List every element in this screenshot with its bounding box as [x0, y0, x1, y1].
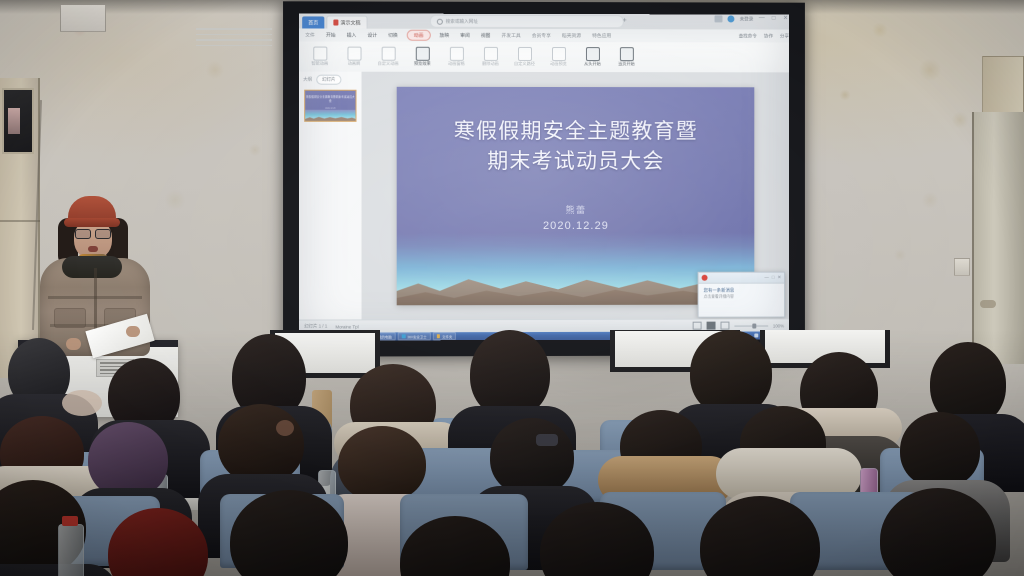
presenter-mouth [88, 246, 98, 252]
notification-popup[interactable]: — □ ✕ 您有一条新消息 点击查看详细内容 [698, 272, 785, 318]
sparkle-icon [313, 47, 327, 61]
door-handle[interactable] [980, 300, 996, 308]
preview-effect-label: 预览效果 [414, 62, 431, 66]
head [218, 404, 304, 484]
play-from-current-label: 当页开始 [618, 63, 635, 67]
slide-date: 2020.12.29 [397, 220, 755, 232]
book-icon [415, 47, 429, 61]
play-from-start-label: 从头开始 [584, 62, 601, 66]
projector-icon [585, 47, 599, 61]
preview-effect-button[interactable]: 预览效果 [410, 47, 435, 66]
zoom-slider-handle[interactable] [752, 323, 756, 328]
delete-animation-label: 删除动画 [482, 62, 499, 66]
document-tab[interactable]: 演示文稿 [326, 15, 367, 28]
smart-animation-label: 智能动画 [311, 62, 328, 66]
ribbon-tab-devtools[interactable]: 开发工具 [499, 31, 522, 40]
right-door[interactable] [972, 112, 1024, 364]
outline-tab[interactable]: 大纲 [303, 77, 312, 83]
slides-tab[interactable]: 幻灯片 [316, 75, 341, 85]
custom-animation-label: 自定义动画 [378, 62, 399, 66]
lock-icon [437, 18, 443, 24]
zoom-slider[interactable] [734, 325, 768, 326]
ribbon-tab-file[interactable]: 文件 [303, 30, 317, 39]
ribbon-tab-resources[interactable]: 稻壳资源 [560, 31, 583, 40]
slide-presenter-name: 熊蕾 [397, 203, 755, 216]
maximize-icon[interactable]: □ [770, 16, 777, 23]
head [338, 426, 426, 502]
ribbon-tab-review[interactable]: 审阅 [458, 31, 472, 40]
slide-thumbnail-1[interactable]: 寒假假期安全主题教育暨期末考试动员大会 2020.12.29 [304, 90, 356, 122]
play-from-current-button[interactable]: 当页开始 [614, 48, 639, 67]
status-bar-right: 100% [692, 321, 784, 329]
play-from-start-button[interactable]: 从头开始 [580, 47, 605, 66]
notification-minimize-icon[interactable]: — [764, 275, 768, 281]
notification-app-icon [702, 275, 708, 281]
hair-tie [276, 420, 294, 436]
animation-pane-label: 动画窗格 [448, 62, 465, 66]
account-label[interactable]: 未登录 [740, 16, 754, 22]
home-tab[interactable]: 首页 [302, 16, 324, 28]
ribbon-tab-slideshow[interactable]: 放映 [438, 31, 452, 40]
presenter-collar [62, 256, 122, 278]
thumbnail-date: 2020.12.29 [305, 108, 355, 111]
fur-trim [62, 390, 102, 416]
normal-view-button[interactable] [692, 322, 701, 330]
minimize-icon[interactable]: — [758, 16, 765, 23]
grid-icon[interactable] [715, 15, 723, 22]
ribbon-tab-transition[interactable]: 切换 [386, 31, 400, 40]
slide-sorter-button[interactable] [706, 322, 715, 330]
ribbon-toolbar: 智能动画 动画刷 自定义动画 预览效果 动画窗格 删除动画 [299, 42, 789, 74]
path-icon [517, 47, 531, 61]
share-button[interactable]: 分享 [780, 33, 789, 39]
play-icon [551, 47, 565, 61]
smart-animation-button[interactable]: 智能动画 [307, 47, 332, 66]
screen-play-icon [619, 48, 633, 62]
lecture-hall-photo: 首页 演示文稿 搜索或输入网址 + 未登录 — □ ✕ 文件 开始 [0, 0, 1024, 576]
ribbon-right-actions: 查找命令 协作 分享 [739, 29, 789, 42]
head [88, 422, 168, 498]
slide-title-line1: 寒假假期安全主题教育暨 [397, 117, 755, 147]
thumbnail-pane-header: 大纲 幻灯片 [299, 72, 361, 88]
ribbon-tab-design[interactable]: 设计 [365, 31, 379, 40]
address-bar[interactable]: 搜索或输入网址 [430, 15, 624, 28]
head [900, 412, 980, 488]
address-bar-text: 搜索或输入网址 [446, 18, 478, 24]
ribbon-tab-apps[interactable]: 特色应用 [590, 31, 613, 40]
animation-preview-button[interactable]: 动画预览 [546, 47, 571, 66]
animation-preview-label: 动画预览 [550, 62, 567, 66]
thumbnail-title: 寒假假期安全主题教育暨期末考试动员大会 [305, 96, 355, 103]
new-tab-button[interactable]: + [623, 17, 627, 25]
head [490, 418, 574, 496]
slide-counter: 幻灯片 1 / 1 [304, 323, 327, 329]
notification-window-controls: — □ ✕ [764, 275, 781, 281]
light-switch[interactable] [954, 258, 970, 276]
collaborate-button[interactable]: 协作 [764, 33, 773, 39]
presenter-pocket-left [54, 308, 86, 328]
ribbon-tab-view[interactable]: 视图 [479, 31, 493, 40]
custom-path-button[interactable]: 自定义路径 [512, 47, 537, 66]
projection-screen: 首页 演示文稿 搜索或输入网址 + 未登录 — □ ✕ 文件 开始 [299, 13, 789, 340]
zoom-level: 100% [773, 323, 784, 328]
custom-path-label: 自定义路径 [514, 62, 535, 66]
ceiling-vent [60, 4, 106, 32]
cabinet-label [8, 108, 20, 134]
animation-pane-button[interactable]: 动画窗格 [444, 47, 469, 66]
eraser-icon [483, 47, 497, 61]
notification-close-icon[interactable]: ✕ [777, 275, 781, 281]
notification-maximize-icon[interactable]: □ [772, 275, 775, 281]
window-controls: 未登录 — □ ✕ [715, 15, 789, 22]
ribbon-tab-start[interactable]: 开始 [324, 31, 338, 40]
template-name: Moraine Tpl [335, 324, 358, 329]
custom-animation-button[interactable]: 自定义动画 [376, 47, 401, 66]
notification-body: 点击查看详细内容 [699, 295, 784, 301]
presenter-glasses [75, 229, 111, 237]
slide-thumbnail-pane: 大纲 幻灯片 寒假假期安全主题教育暨期末考试动员大会 2020.12.29 [299, 72, 362, 321]
find-command-button[interactable]: 查找命令 [739, 33, 757, 39]
podium-markings [196, 24, 272, 50]
close-icon[interactable]: ✕ [782, 16, 789, 23]
slide-title: 寒假假期安全主题教育暨 期末考试动员大会 [397, 117, 755, 177]
ribbon-tab-insert[interactable]: 插入 [345, 31, 359, 40]
avatar[interactable] [728, 15, 735, 22]
ribbon-tab-member[interactable]: 会员专享 [530, 31, 553, 40]
presenter-hat-brim [64, 218, 120, 227]
panel-icon [449, 47, 463, 61]
star-icon [381, 47, 395, 61]
audience-area [0, 330, 1024, 576]
brush-icon [347, 47, 361, 61]
notification-title: 您有一条新消息 [699, 284, 784, 295]
water-bottle-front [58, 524, 84, 576]
head [470, 330, 550, 418]
animation-brush-button[interactable]: 动画刷 [341, 47, 366, 66]
notification-titlebar: — □ ✕ [699, 273, 784, 284]
delete-animation-button[interactable]: 删除动画 [478, 47, 503, 66]
presentation-file-icon [333, 20, 338, 26]
document-tab-label: 演示文稿 [340, 19, 360, 26]
bottle-cap [62, 516, 78, 526]
ribbon-tab-animation[interactable]: 动画 [407, 30, 431, 41]
hair-clip [536, 434, 558, 446]
animation-brush-label: 动画刷 [348, 62, 361, 66]
slide-title-line2: 期末考试动员大会 [397, 147, 755, 177]
reading-view-button[interactable] [720, 322, 729, 330]
